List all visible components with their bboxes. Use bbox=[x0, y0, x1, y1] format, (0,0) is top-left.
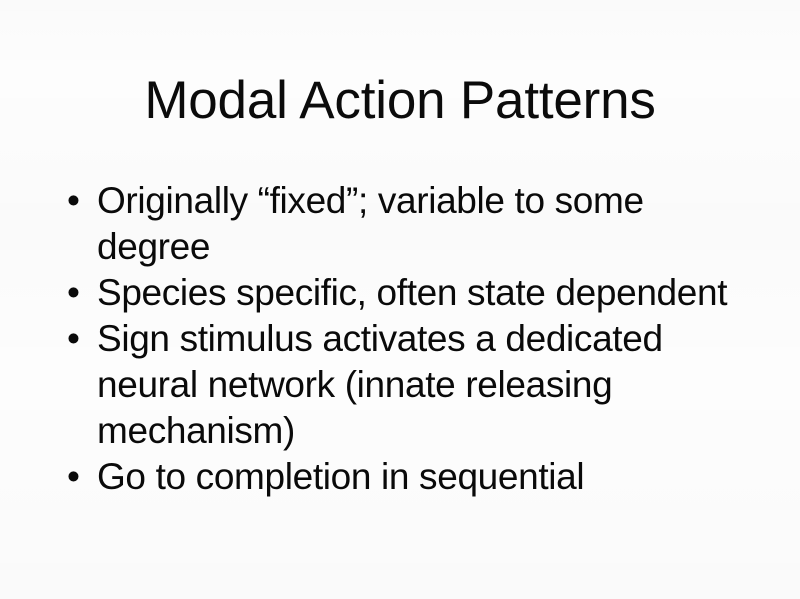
list-item-line: degree bbox=[97, 224, 762, 270]
list-item-text: Species specific, often state dependent bbox=[97, 270, 762, 316]
bullet-point-icon: • bbox=[67, 316, 89, 362]
list-item-line: Sign stimulus activates a dedicated bbox=[97, 316, 762, 362]
list-item-line: Go to completion in sequential bbox=[97, 454, 762, 500]
list-item-text: Originally “fixed”; variable to some deg… bbox=[97, 178, 762, 270]
list-item-line: neural network (innate releasing bbox=[97, 362, 762, 408]
list-item-line: Originally “fixed”; variable to some bbox=[97, 178, 762, 224]
list-item-line: mechanism) bbox=[97, 408, 762, 454]
list-item: • Species specific, often state dependen… bbox=[62, 270, 762, 316]
list-item: • Go to completion in sequential bbox=[62, 454, 762, 500]
bullet-point-icon: • bbox=[67, 270, 89, 316]
page-title: Modal Action Patterns bbox=[0, 72, 800, 130]
list-item: • Sign stimulus activates a dedicated ne… bbox=[62, 316, 762, 454]
list-item-line: Species specific, often state dependent bbox=[97, 270, 762, 316]
list-item: • Originally “fixed”; variable to some d… bbox=[62, 178, 762, 270]
list-item-text: Sign stimulus activates a dedicated neur… bbox=[97, 316, 762, 454]
presentation-slide: Modal Action Patterns • Originally “fixe… bbox=[0, 0, 800, 599]
bullet-list: • Originally “fixed”; variable to some d… bbox=[62, 178, 762, 500]
list-item-text: Go to completion in sequential bbox=[97, 454, 762, 500]
bullet-point-icon: • bbox=[67, 178, 89, 224]
bullet-point-icon: • bbox=[67, 454, 89, 500]
